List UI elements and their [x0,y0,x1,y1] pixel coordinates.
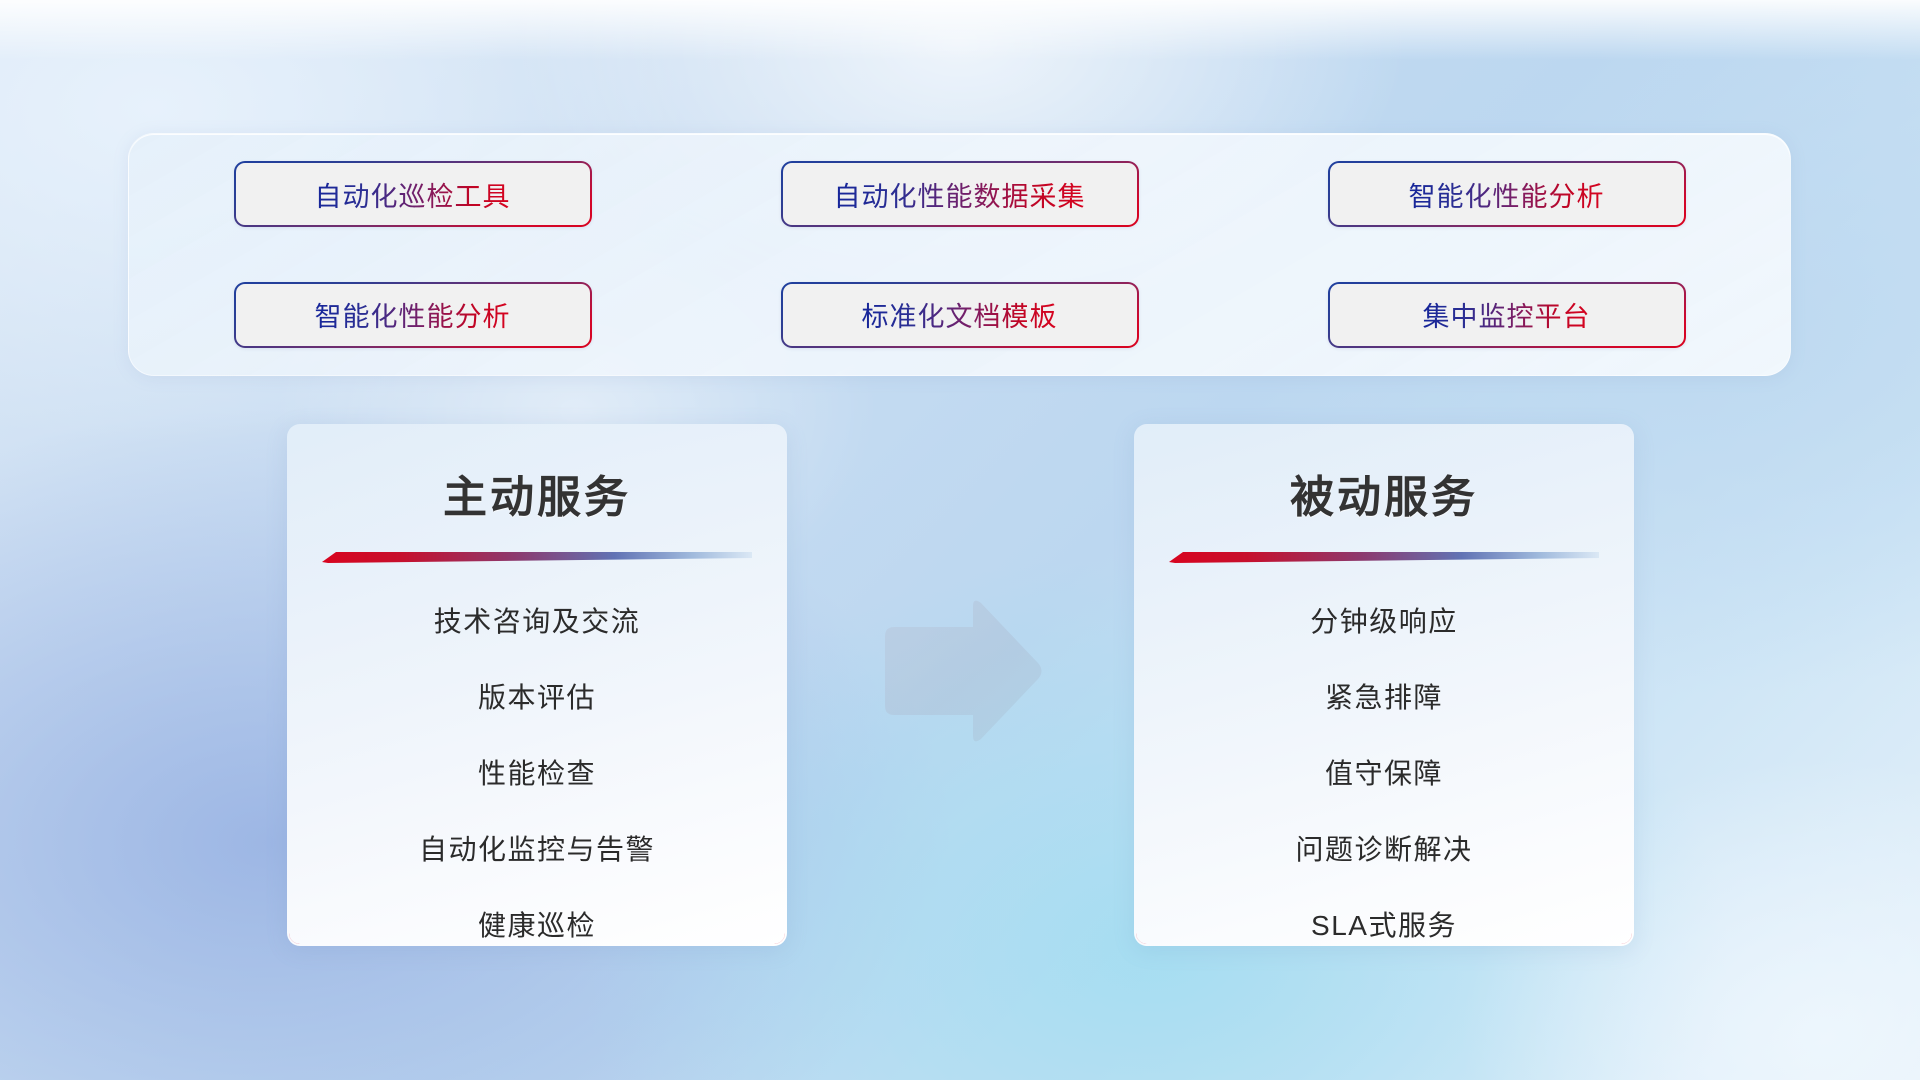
service-item[interactable]: 分钟级响应 [1136,608,1632,636]
service-item-list: 分钟级响应 紧急排障 值守保障 问题诊断解决 SLA式服务 [1136,566,1632,940]
capability-pill-standard-doc-template[interactable]: 标准化文档模板 [781,282,1139,348]
card-title: 被动服务 [1136,426,1632,525]
service-item[interactable]: 值守保障 [1136,760,1632,788]
card-title-divider [322,550,752,566]
service-item-list: 技术咨询及交流 版本评估 性能检查 自动化监控与告警 健康巡检 [289,566,785,940]
pill-label: 智能化性能分析 [1409,175,1605,214]
capability-pill-grid: 自动化巡检工具 自动化性能数据采集 智能化性能分析 智能化性能分析 标准化文档模… [129,134,1790,375]
pill-label: 集中监控平台 [1423,295,1591,334]
service-item[interactable]: 版本评估 [289,684,785,712]
capability-pill-automated-inspection-tool[interactable]: 自动化巡检工具 [234,161,592,227]
capability-pill-central-monitoring-platform[interactable]: 集中监控平台 [1328,282,1686,348]
capability-pill-automated-performance-collection[interactable]: 自动化性能数据采集 [781,161,1139,227]
service-card-reactive[interactable]: 被动服务 分钟级响应 紧急排障 值守保障 [1134,424,1634,946]
service-card-proactive[interactable]: 主动服务 技术咨询及交流 版本评估 性能检查 [287,424,787,946]
pill-label: 标准化文档模板 [862,295,1058,334]
pill-label: 智能化性能分析 [315,295,511,334]
service-item[interactable]: 健康巡检 [289,912,785,940]
pill-label: 自动化性能数据采集 [834,175,1086,214]
capability-pill-intelligent-performance-analysis-2[interactable]: 智能化性能分析 [234,282,592,348]
capability-pill-intelligent-performance-analysis[interactable]: 智能化性能分析 [1328,161,1686,227]
service-item[interactable]: 自动化监控与告警 [289,836,785,864]
service-item[interactable]: 技术咨询及交流 [289,608,785,636]
pill-label: 自动化巡检工具 [315,175,511,214]
card-title: 主动服务 [289,426,785,525]
flow-arrow-right-icon [875,596,1045,746]
capability-panel: 自动化巡检工具 自动化性能数据采集 智能化性能分析 智能化性能分析 标准化文档模… [128,133,1791,376]
service-item[interactable]: 性能检查 [289,760,785,788]
card-title-divider [1169,550,1599,566]
slide-canvas: 自动化巡检工具 自动化性能数据采集 智能化性能分析 智能化性能分析 标准化文档模… [0,0,1920,1080]
service-item[interactable]: 紧急排障 [1136,684,1632,712]
service-item[interactable]: SLA式服务 [1136,912,1632,940]
service-item[interactable]: 问题诊断解决 [1136,836,1632,864]
